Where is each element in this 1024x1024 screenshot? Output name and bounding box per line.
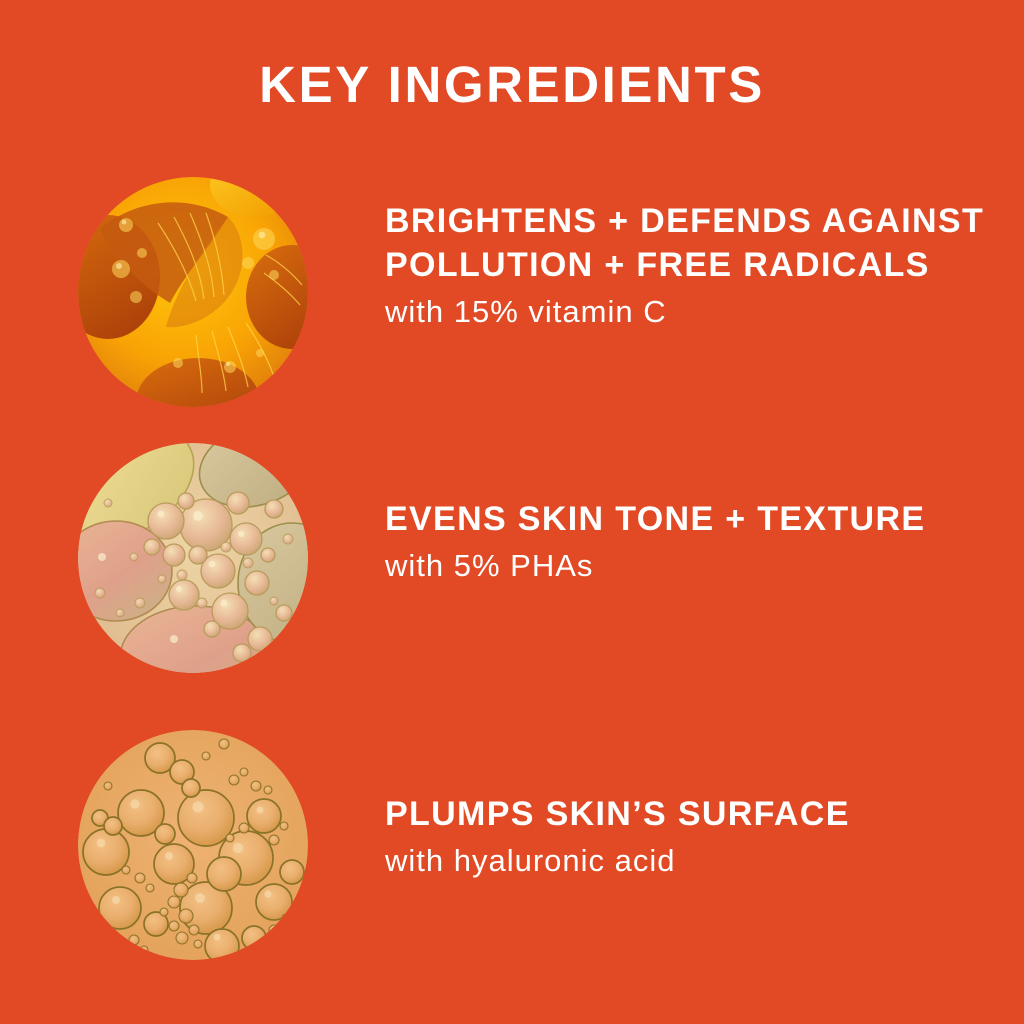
ingredient-headline: EVENS SKIN TONE + TEXTURE — [385, 497, 985, 541]
ingredient-copy-2: EVENS SKIN TONE + TEXTURE with 5% PHAs — [385, 497, 985, 587]
ingredient-copy-3: PLUMPS SKIN’S SURFACE with hyaluronic ac… — [385, 792, 985, 882]
citrus-oil-macro-swatch — [78, 177, 308, 407]
pale-oil-bubbles-swatch — [78, 443, 308, 673]
key-ingredients-poster: KEY INGREDIENTS — [0, 0, 1024, 1024]
amber-bubbles-swatch — [78, 730, 308, 960]
ingredient-subline: with 15% vitamin C — [385, 291, 985, 333]
ingredient-subline: with hyaluronic acid — [385, 840, 985, 882]
ingredient-headline: BRIGHTENS + DEFENDS AGAINST POLLUTION + … — [385, 199, 985, 287]
ingredient-headline: PLUMPS SKIN’S SURFACE — [385, 792, 985, 836]
ingredient-copy-1: BRIGHTENS + DEFENDS AGAINST POLLUTION + … — [385, 199, 985, 333]
page-title: KEY INGREDIENTS — [0, 57, 1024, 113]
ingredient-subline: with 5% PHAs — [385, 545, 985, 587]
